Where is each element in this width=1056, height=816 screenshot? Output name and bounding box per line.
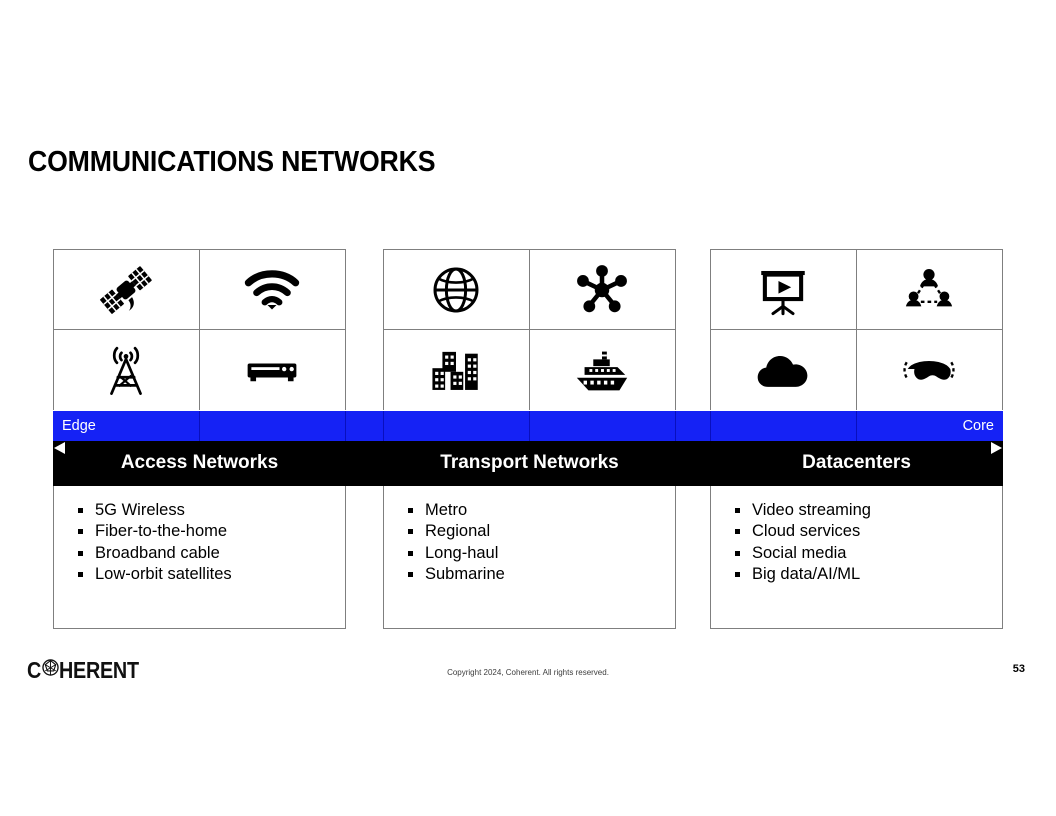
column-group-access xyxy=(53,249,346,410)
icon-cell[interactable] xyxy=(711,250,857,330)
broadcast-tower-icon xyxy=(97,341,155,399)
list-item: Cloud services xyxy=(733,521,1002,542)
city-buildings-icon xyxy=(427,341,485,399)
band-seam xyxy=(856,411,857,441)
band-seam xyxy=(710,411,711,441)
tier-label-transport: Transport Networks xyxy=(383,452,676,474)
tier-label-datacenters: Datacenters xyxy=(710,452,1003,474)
band-seam xyxy=(345,411,346,441)
icon-cell[interactable] xyxy=(711,330,857,410)
list-item: Submarine xyxy=(406,564,675,585)
icon-grid-access xyxy=(53,249,346,410)
bullet-list: Metro Regional Long-haul Submarine xyxy=(406,500,675,585)
band-seam xyxy=(675,411,676,441)
icon-cell[interactable] xyxy=(54,250,200,330)
satellite-icon xyxy=(96,260,156,320)
icon-cell[interactable] xyxy=(857,330,1003,410)
band-seam xyxy=(383,411,384,441)
list-item: Broadband cable xyxy=(76,543,345,564)
icon-cell[interactable] xyxy=(857,250,1003,330)
edge-core-spectrum-band: Edge Core xyxy=(53,411,1003,441)
copyright-notice: Copyright 2024, Coherent. All rights res… xyxy=(0,668,1056,677)
globe-icon xyxy=(428,262,484,318)
set-top-box-icon xyxy=(242,340,302,400)
list-box-transport: Metro Regional Long-haul Submarine xyxy=(383,486,676,629)
bullet-list: 5G Wireless Fiber-to-the-home Broadband … xyxy=(76,500,345,585)
list-item: 5G Wireless xyxy=(76,500,345,521)
social-network-icon xyxy=(900,261,958,319)
list-box-datacenters: Video streaming Cloud services Social me… xyxy=(710,486,1003,629)
band-seam xyxy=(529,411,530,441)
icon-grid-transport xyxy=(383,249,676,410)
vr-headset-icon xyxy=(898,339,960,401)
edge-label: Edge xyxy=(62,418,96,434)
list-item: Social media xyxy=(733,543,1002,564)
wifi-icon xyxy=(243,261,301,319)
tier-label-access: Access Networks xyxy=(53,452,346,474)
icon-cell[interactable] xyxy=(54,330,200,410)
icon-cell[interactable] xyxy=(200,250,346,330)
bullet-list: Video streaming Cloud services Social me… xyxy=(733,500,1002,585)
cloud-icon xyxy=(753,340,813,400)
page-number: 53 xyxy=(1013,663,1025,675)
column-group-datacenters xyxy=(710,249,1003,410)
ship-icon xyxy=(571,339,633,401)
band-seam xyxy=(199,411,200,441)
network-hub-icon xyxy=(573,261,631,319)
icon-cell[interactable] xyxy=(384,250,530,330)
column-group-transport xyxy=(383,249,676,410)
list-box-access: 5G Wireless Fiber-to-the-home Broadband … xyxy=(53,486,346,629)
list-item: Low-orbit satellites xyxy=(76,564,345,585)
list-item: Video streaming xyxy=(733,500,1002,521)
video-screen-icon xyxy=(754,261,812,319)
icon-cell[interactable] xyxy=(200,330,346,410)
page-title: COMMUNICATIONS NETWORKS xyxy=(28,146,435,179)
slide-canvas: COMMUNICATIONS NETWORKS xyxy=(0,0,1056,816)
core-label: Core xyxy=(963,418,994,434)
network-tier-band: Access Networks Transport Networks Datac… xyxy=(53,441,1003,486)
icon-cell[interactable] xyxy=(384,330,530,410)
list-item: Metro xyxy=(406,500,675,521)
list-item: Fiber-to-the-home xyxy=(76,521,345,542)
icon-cell[interactable] xyxy=(530,250,676,330)
icon-cell[interactable] xyxy=(530,330,676,410)
icon-grid-datacenters xyxy=(710,249,1003,410)
list-item: Long-haul xyxy=(406,543,675,564)
list-item: Regional xyxy=(406,521,675,542)
list-item: Big data/AI/ML xyxy=(733,564,1002,585)
